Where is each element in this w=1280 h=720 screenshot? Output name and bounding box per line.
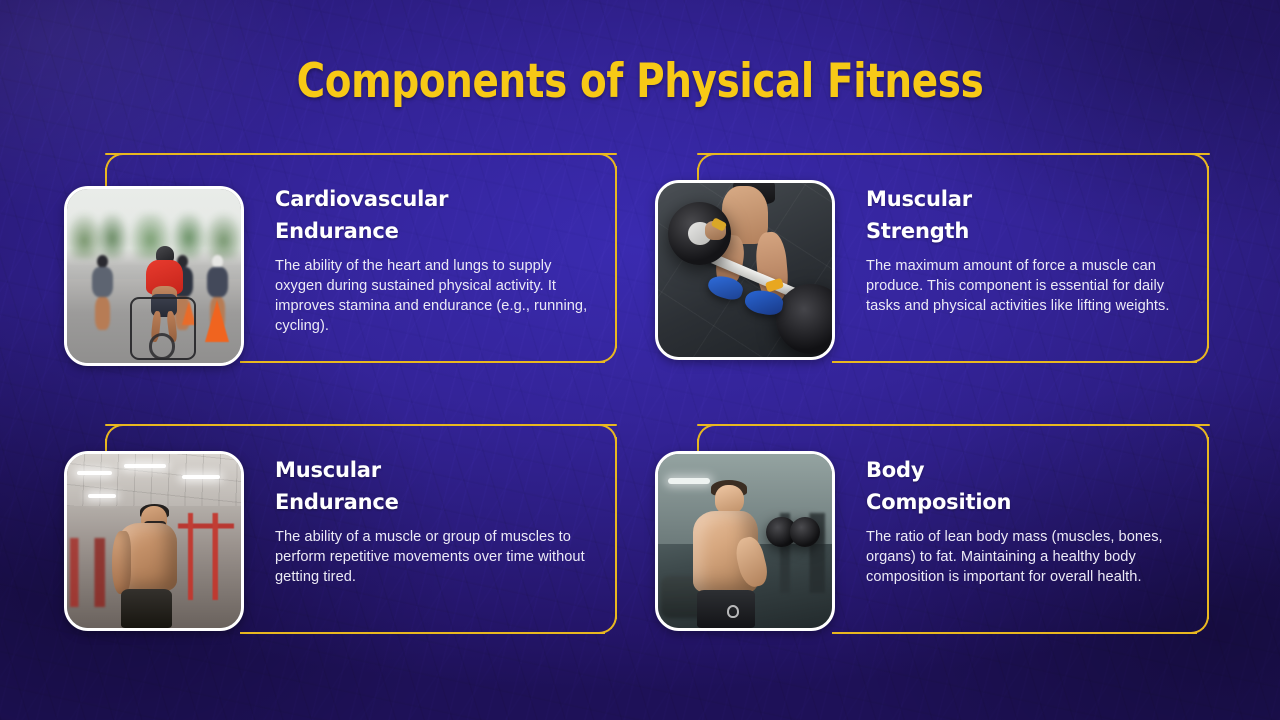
card-body: The ability of the heart and lungs to su… [275,256,595,337]
card-body: The maximum amount of force a muscle can… [866,256,1186,316]
card-body: The ratio of lean body mass (muscles, bo… [866,527,1186,587]
card-image-deadlift [655,180,835,360]
card-heading: Body Composition [866,455,1186,519]
slide-canvas: Components of Physical Fitness [0,0,1280,720]
card-body: The ability of a muscle or group of musc… [275,527,595,587]
card-image-cyclists [64,186,244,366]
card-image-dumbbell-curl [655,451,835,631]
card-heading: Muscular Strength [866,184,1186,248]
card-heading: Muscular Endurance [275,455,595,519]
page-title: Components of Physical Fitness [51,58,1229,105]
card-image-bodybuilder [64,451,244,631]
card-heading: Cardiovascular Endurance [275,184,595,248]
